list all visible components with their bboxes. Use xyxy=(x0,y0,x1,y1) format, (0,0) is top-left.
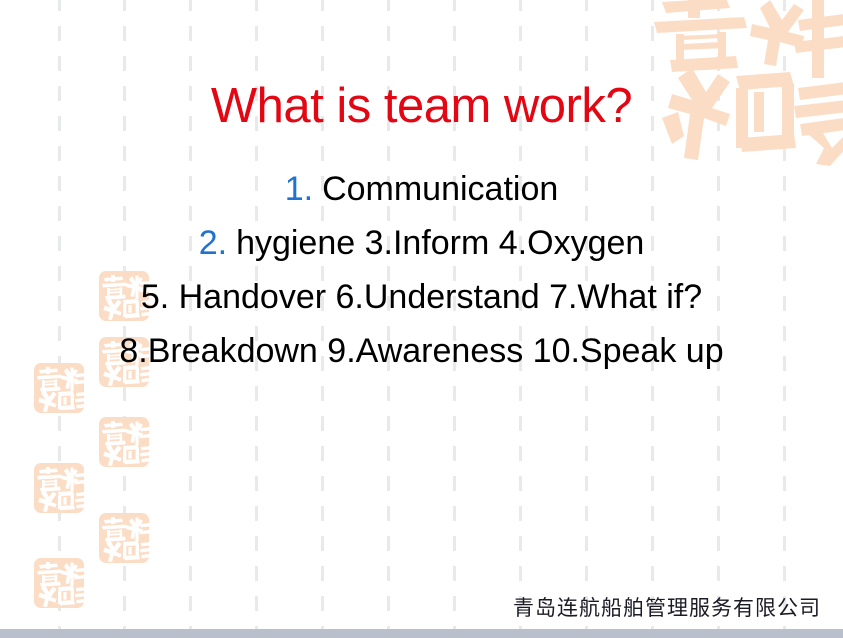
bottom-scrollbar[interactable] xyxy=(0,629,843,638)
list-item: 8.Breakdown 9.Awareness 10.Speak up xyxy=(0,324,843,378)
list-item-marker: 1. xyxy=(285,170,313,208)
slide-content: What is team work? 1.Communication2.hygi… xyxy=(0,0,843,638)
list-item-text: Communication xyxy=(322,170,558,208)
presentation-slide: What is team work? 1.Communication2.hygi… xyxy=(0,0,843,638)
slide-body-list: 1.Communication2.hygiene 3.Inform 4.Oxyg… xyxy=(0,162,843,378)
list-item-marker: 2. xyxy=(199,224,227,262)
footer-company-name: 青岛连航船舶管理服务有限公司 xyxy=(513,592,821,622)
slide-title: What is team work? xyxy=(0,82,843,131)
list-item: 2.hygiene 3.Inform 4.Oxygen xyxy=(0,216,843,270)
list-item-text: 5. Handover 6.Understand 7.What if? xyxy=(141,278,702,316)
list-item-text: hygiene 3.Inform 4.Oxygen xyxy=(236,224,644,262)
list-item: 5. Handover 6.Understand 7.What if? xyxy=(0,270,843,324)
list-item-text: 8.Breakdown 9.Awareness 10.Speak up xyxy=(119,332,723,370)
list-item: 1.Communication xyxy=(0,162,843,216)
